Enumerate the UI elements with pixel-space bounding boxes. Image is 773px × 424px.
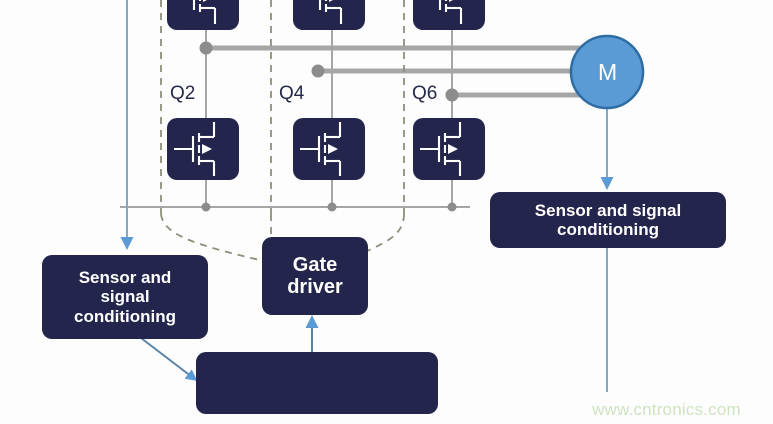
mosfet-q1 [167,0,239,30]
sensor-left-line-1: Sensor and [79,268,172,287]
mosfet-q4 [293,118,365,180]
motor-label: M [598,59,617,86]
mosfet-label-q6: Q6 [412,83,437,105]
sensor-signal-conditioning-left-block[interactable]: Sensor and signal conditioning [42,255,208,339]
gate-driver-line-1: Gate [293,254,337,276]
mosfet-q3 [293,0,365,30]
gate-driver-line-2: driver [287,276,343,298]
mosfet-q6 [413,118,485,180]
mosfet-q2 [167,118,239,180]
mosfet-label-q4: Q4 [279,83,304,105]
sensor-right-line-1: Sensor and signal [535,201,681,220]
controller-block[interactable] [196,352,438,414]
mosfet-q5 [413,0,485,30]
mosfet-q1-body [167,0,239,30]
sensor-to-controller-arrow [141,338,196,380]
junction-dot-w [446,89,459,102]
gate-driver-block[interactable]: Gate driver [262,237,368,315]
ground-dot-3 [448,203,457,212]
mosfet-q3-body [293,0,365,30]
mosfet-label-q2: Q2 [170,83,195,105]
sensor-left-line-3: conditioning [74,307,176,326]
mosfet-q5-body [413,0,485,30]
sensor-signal-conditioning-right-block[interactable]: Sensor and signal conditioning [490,192,726,248]
ground-dot-1 [202,203,211,212]
diagram-canvas: Q2 Q4 Q6 M Sensor and signal conditionin… [0,0,773,424]
gate-dashed-verticals [161,0,404,214]
watermark-text: www.cntronics.com [592,400,741,420]
junction-dot-u [200,42,213,55]
junction-dot-v [312,65,325,78]
sensor-right-line-2: conditioning [557,220,659,239]
phase-wires [206,48,595,95]
ground-dot-2 [328,203,337,212]
sensor-left-line-2: signal [100,287,149,306]
